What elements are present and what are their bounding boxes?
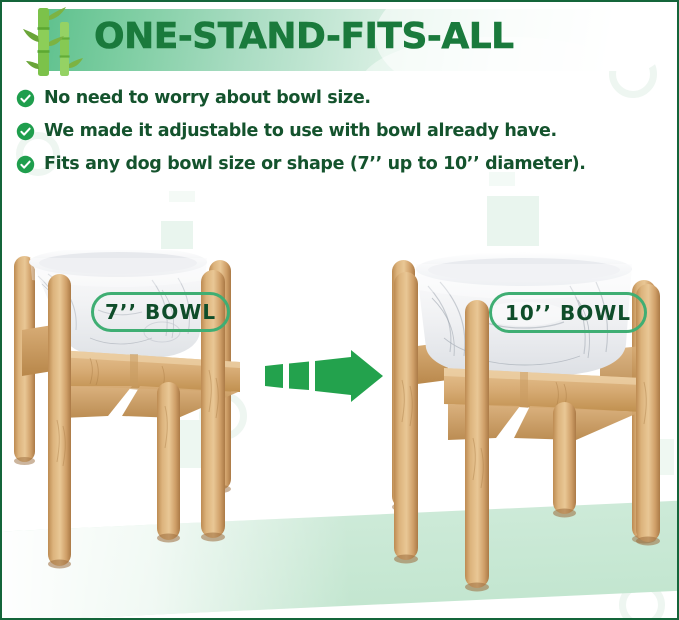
list-item-label: We made it adjustable to use with bowl a… bbox=[44, 123, 557, 141]
page-title: ONE-STAND-FITS-ALL bbox=[94, 8, 654, 64]
list-item: We made it adjustable to use with bowl a… bbox=[16, 115, 666, 148]
list-item: No need to worry about bowl size. bbox=[16, 82, 666, 115]
list-item-label: Fits any dog bowl size or shape (7’’ up … bbox=[44, 156, 586, 174]
bamboo-icon bbox=[20, 6, 104, 78]
list-item-label: No need to worry about bowl size. bbox=[44, 90, 371, 108]
badge-7-inch-bowl: 7’’ BOWL bbox=[91, 292, 230, 332]
decor-square-1 bbox=[161, 221, 193, 249]
badge-10-inch-bowl: 10’’ BOWL bbox=[489, 292, 647, 333]
right-arrow bbox=[265, 350, 383, 402]
list-item: Fits any dog bowl size or shape (7’’ up … bbox=[16, 148, 666, 181]
decor-square-2 bbox=[487, 196, 539, 246]
check-circle-icon bbox=[16, 122, 35, 141]
check-circle-icon bbox=[16, 89, 35, 108]
benefit-list: No need to worry about bowl size. We mad… bbox=[16, 82, 666, 181]
decor-square-4 bbox=[169, 191, 195, 202]
infographic-canvas: ONE-STAND-FITS-ALL No need to worry abou… bbox=[0, 0, 679, 620]
check-circle-icon bbox=[16, 155, 35, 174]
